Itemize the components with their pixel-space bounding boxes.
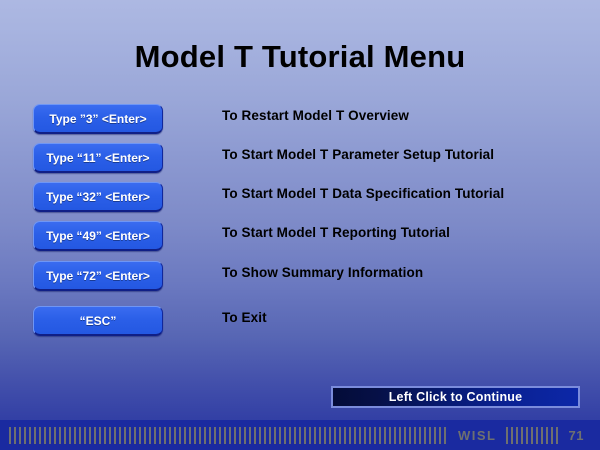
slide: Model T Tutorial Menu Type ”3” <Enter> T… [0,0,600,450]
footer-brand: WISL [458,428,497,443]
menu-description: To Start Model T Data Specification Tuto… [222,186,504,201]
page-title: Model T Tutorial Menu [0,39,600,75]
menu-row: Type ”3” <Enter> To Restart Model T Over… [0,104,600,138]
menu-key-button-parameter-setup[interactable]: Type “11” <Enter> [33,143,163,173]
footer-bar: WISL 71 [0,420,600,450]
left-click-to-continue-button[interactable]: Left Click to Continue [331,386,580,408]
menu-description: To Show Summary Information [222,265,423,280]
menu-description: To Start Model T Reporting Tutorial [222,225,450,240]
continue-label: Left Click to Continue [389,390,523,404]
menu-key-label: Type “49” <Enter> [46,229,150,243]
menu-row: “ESC” To Exit [0,306,600,340]
menu-key-button-data-specification[interactable]: Type “32” <Enter> [33,182,163,212]
footer-page-number: 71 [569,428,584,443]
menu-row: Type “11” <Enter> To Start Model T Param… [0,143,600,177]
footer-tick-marks-left-icon [9,427,449,444]
menu-row: Type “49” <Enter> To Start Model T Repor… [0,221,600,255]
menu-key-label: Type “32” <Enter> [46,190,150,204]
menu-row: Type “32” <Enter> To Start Model T Data … [0,182,600,216]
menu-key-button-summary-information[interactable]: Type “72” <Enter> [33,261,163,291]
menu-key-label: Type “11” <Enter> [46,151,149,165]
menu-key-button-exit[interactable]: “ESC” [33,306,163,336]
menu-key-button-restart-overview[interactable]: Type ”3” <Enter> [33,104,163,134]
menu-key-label: Type ”3” <Enter> [49,112,146,126]
menu-description: To Start Model T Parameter Setup Tutoria… [222,147,494,162]
menu-description: To Exit [222,310,267,325]
menu-key-label: Type “72” <Enter> [46,269,150,283]
menu-key-button-reporting[interactable]: Type “49” <Enter> [33,221,163,251]
footer-tick-marks-right-icon [506,427,559,444]
menu-key-label: “ESC” [80,314,117,328]
menu-description: To Restart Model T Overview [222,108,409,123]
menu-row: Type “72” <Enter> To Show Summary Inform… [0,261,600,295]
